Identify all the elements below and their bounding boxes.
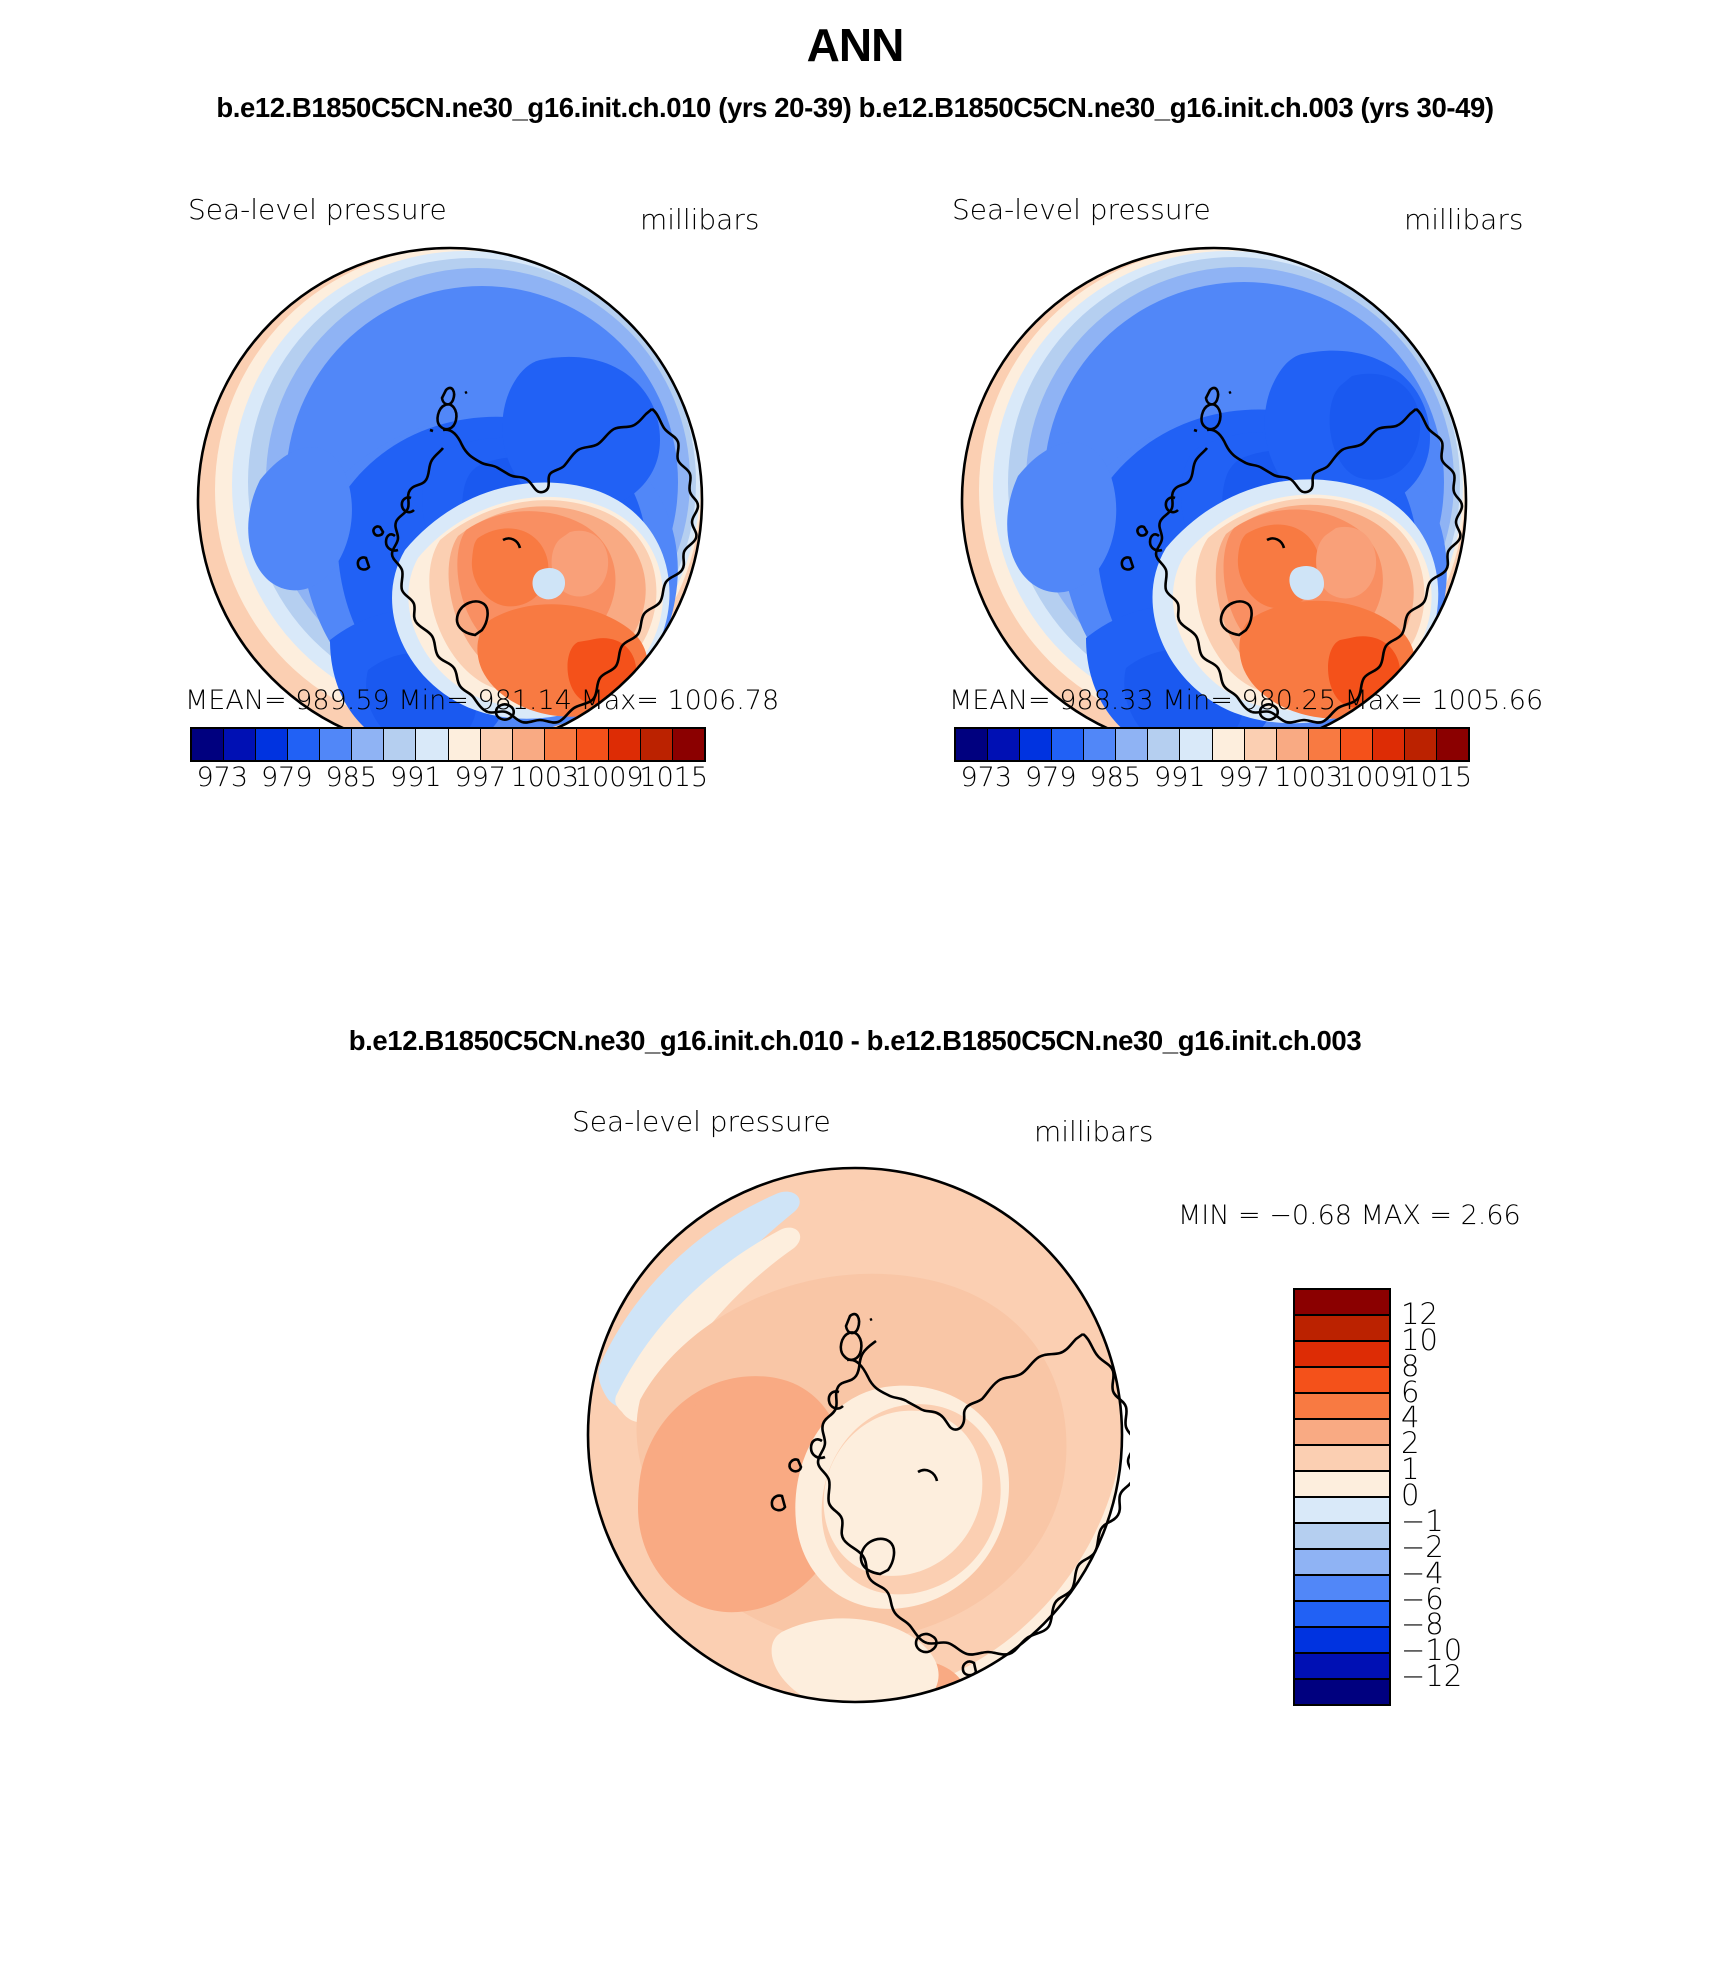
- right-variable-label: Sea-level pressure: [952, 193, 1211, 226]
- left-contour-fills: [198, 247, 702, 753]
- colorbar-cell: [1295, 1602, 1389, 1628]
- diff-colorbar-group: 1210864210−1−2−4−6−8−10−12: [1293, 1288, 1391, 1706]
- left-colorbar-group: 973979985991997100310091015: [190, 727, 706, 796]
- colorbar-cell: [1148, 729, 1180, 760]
- diff-contour-fills: [580, 1160, 1124, 1710]
- colorbar-tick-label: 973: [960, 762, 1012, 793]
- colorbar-cell: [956, 729, 988, 760]
- colorbar-cell: [288, 729, 320, 760]
- right-colorbar[interactable]: [954, 727, 1470, 762]
- colorbar-tick-label: 997: [1218, 762, 1270, 793]
- colorbar-cell: [513, 729, 545, 760]
- diff-variable-label: Sea-level pressure: [572, 1105, 831, 1138]
- page-subtitle: b.e12.B1850C5CN.ne30_g16.init.ch.010 (yr…: [0, 92, 1710, 124]
- left-colorbar-labels: 973979985991997100310091015: [190, 762, 706, 796]
- colorbar-cell: [1116, 729, 1148, 760]
- colorbar-cell: [449, 729, 481, 760]
- colorbar-cell: [192, 729, 224, 760]
- colorbar-cell: [577, 729, 609, 760]
- right-colorbar-labels: 973979985991997100310091015: [954, 762, 1470, 796]
- colorbar-cell: [1295, 1290, 1389, 1316]
- colorbar-cell: [1020, 729, 1052, 760]
- right-colorbar-group: 973979985991997100310091015: [954, 727, 1470, 796]
- colorbar-tick-label: 1015: [639, 762, 708, 793]
- colorbar-cell: [1245, 729, 1277, 760]
- right-units-label: millibars: [1404, 203, 1523, 236]
- colorbar-cell: [384, 729, 416, 760]
- diff-map-svg: [580, 1160, 1130, 1710]
- diff-stats: MIN = −0.68 MAX = 2.66: [1178, 1200, 1521, 1231]
- colorbar-cell: [1295, 1368, 1389, 1394]
- colorbar-cell: [609, 729, 641, 760]
- colorbar-tick-label: 973: [196, 762, 248, 793]
- colorbar-tick-label: 979: [1025, 762, 1077, 793]
- colorbar-cell: [1295, 1420, 1389, 1446]
- colorbar-cell: [1405, 729, 1437, 760]
- right-stats: MEAN= 988.33 Min= 980.25 Max= 1005.66: [949, 685, 1543, 716]
- diff-units-label: millibars: [1034, 1115, 1153, 1148]
- colorbar-cell: [1295, 1316, 1389, 1342]
- diff-title: b.e12.B1850C5CN.ne30_g16.init.ch.010 - b…: [0, 1025, 1710, 1057]
- colorbar-cell: [673, 729, 704, 760]
- colorbar-tick-label: 991: [1154, 762, 1206, 793]
- colorbar-cell: [1052, 729, 1084, 760]
- colorbar-cell: [416, 729, 448, 760]
- colorbar-tick-label: 1009: [1339, 762, 1408, 793]
- right-map-svg: [954, 240, 1474, 760]
- colorbar-cell: [1341, 729, 1373, 760]
- colorbar-cell: [1295, 1576, 1389, 1602]
- colorbar-tick-label: 985: [1089, 762, 1141, 793]
- colorbar-cell: [1295, 1680, 1389, 1704]
- left-map-plot: [190, 240, 710, 760]
- colorbar-cell: [352, 729, 384, 760]
- colorbar-cell: [1084, 729, 1116, 760]
- colorbar-cell: [545, 729, 577, 760]
- colorbar-cell: [1295, 1550, 1389, 1576]
- colorbar-cell: [1295, 1342, 1389, 1368]
- colorbar-cell: [1373, 729, 1405, 760]
- right-map-plot: [954, 240, 1474, 760]
- diff-map-plot: [580, 1160, 1130, 1710]
- colorbar-tick-label: −12: [1401, 1659, 1462, 1693]
- page-title: ANN: [0, 18, 1710, 72]
- colorbar-cell: [224, 729, 256, 760]
- colorbar-cell: [1295, 1472, 1389, 1498]
- colorbar-cell: [1213, 729, 1245, 760]
- colorbar-cell: [1295, 1654, 1389, 1680]
- colorbar-cell: [1295, 1394, 1389, 1420]
- colorbar-cell: [1295, 1628, 1389, 1654]
- left-stats: MEAN= 989.59 Min= 981.14 Max= 1006.78: [185, 685, 779, 716]
- diff-colorbar-labels: 1210864210−1−2−4−6−8−10−12: [1401, 1288, 1511, 1706]
- colorbar-tick-label: 985: [325, 762, 377, 793]
- colorbar-cell: [1295, 1446, 1389, 1472]
- colorbar-cell: [256, 729, 288, 760]
- diff-colorbar[interactable]: [1293, 1288, 1391, 1706]
- colorbar-tick-label: 979: [261, 762, 313, 793]
- colorbar-cell: [1437, 729, 1468, 760]
- left-units-label: millibars: [640, 203, 759, 236]
- colorbar-cell: [481, 729, 513, 760]
- colorbar-cell: [988, 729, 1020, 760]
- colorbar-tick-label: 1009: [575, 762, 644, 793]
- colorbar-cell: [641, 729, 673, 760]
- colorbar-cell: [1295, 1498, 1389, 1524]
- colorbar-cell: [1277, 729, 1309, 760]
- colorbar-cell: [320, 729, 352, 760]
- colorbar-cell: [1180, 729, 1212, 760]
- colorbar-tick-label: 1015: [1403, 762, 1472, 793]
- left-variable-label: Sea-level pressure: [188, 193, 447, 226]
- left-colorbar[interactable]: [190, 727, 706, 762]
- colorbar-tick-label: 1003: [1274, 762, 1343, 793]
- colorbar-cell: [1309, 729, 1341, 760]
- colorbar-tick-label: 1003: [510, 762, 579, 793]
- colorbar-tick-label: 997: [454, 762, 506, 793]
- colorbar-tick-label: 991: [390, 762, 442, 793]
- colorbar-cell: [1295, 1524, 1389, 1550]
- left-map-svg: [190, 240, 710, 760]
